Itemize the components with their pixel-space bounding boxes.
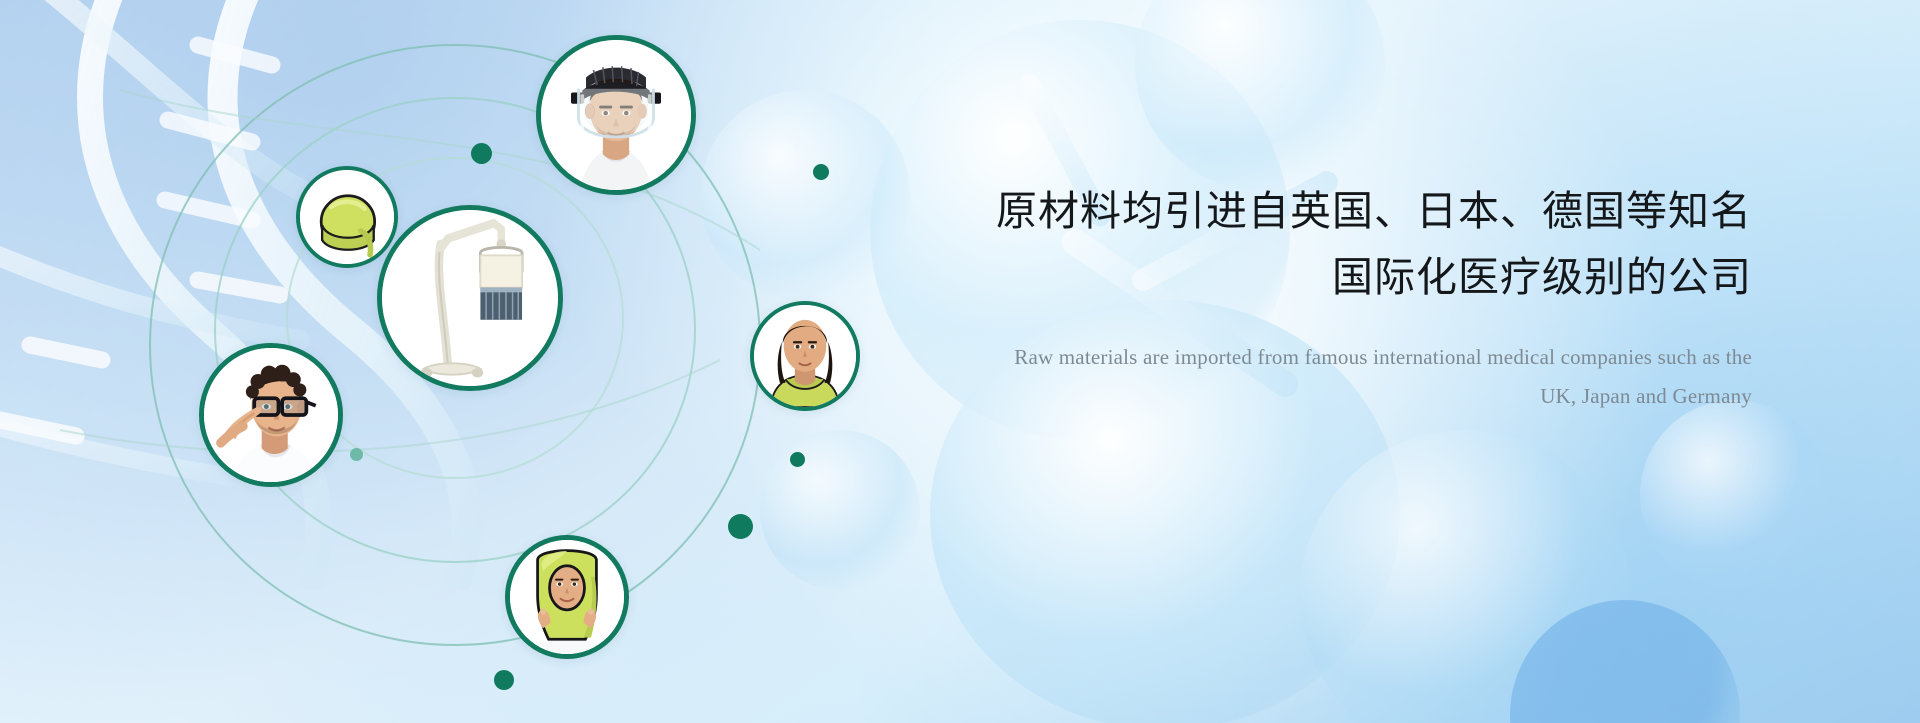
molecule-sphere-icon (1510, 600, 1740, 723)
orbit-dot (728, 514, 753, 539)
molecule-sphere-icon (1300, 430, 1630, 723)
molecule-sphere-icon (1640, 400, 1830, 590)
bubble-face-shield[interactable] (536, 35, 696, 195)
orbit-dot (790, 452, 805, 467)
molecule-sphere-icon (700, 90, 910, 300)
bubble-thyroid-collar[interactable] (750, 301, 860, 411)
woman-wearing-thyroid-collar-icon (754, 305, 856, 407)
orbit-dot (813, 164, 829, 180)
man-wearing-lead-glasses-icon (204, 348, 338, 482)
orbit-dot (350, 448, 363, 461)
woman-wearing-lead-hood-icon (510, 540, 624, 654)
headline-line-2: 国际化医疗级别的公司 (992, 244, 1752, 310)
man-wearing-face-shield-icon (541, 40, 691, 190)
orbit-dot (471, 143, 492, 164)
subtitle: Raw materials are imported from famous i… (992, 338, 1752, 416)
lead-protective-cap-icon (300, 170, 394, 264)
bubble-lead-glasses[interactable] (199, 343, 343, 487)
ceiling-radiation-shield-icon (382, 210, 558, 386)
headline: 原材料均引进自英国、日本、德国等知名 国际化医疗级别的公司 (992, 178, 1752, 310)
bubble-ceiling-shield[interactable] (377, 205, 563, 391)
bubble-lead-hood[interactable] (505, 535, 629, 659)
hero-banner: 原材料均引进自英国、日本、德国等知名 国际化医疗级别的公司 Raw materi… (0, 0, 1920, 723)
hero-copy: 原材料均引进自英国、日本、德国等知名 国际化医疗级别的公司 Raw materi… (992, 178, 1752, 416)
molecule-sphere-icon (760, 430, 920, 590)
molecule-sphere-icon (1135, 0, 1385, 190)
headline-line-1: 原材料均引进自英国、日本、德国等知名 (996, 188, 1752, 234)
subtitle-line-1: Raw materials are imported from famous i… (1014, 345, 1720, 369)
orbit-dot (494, 670, 514, 690)
